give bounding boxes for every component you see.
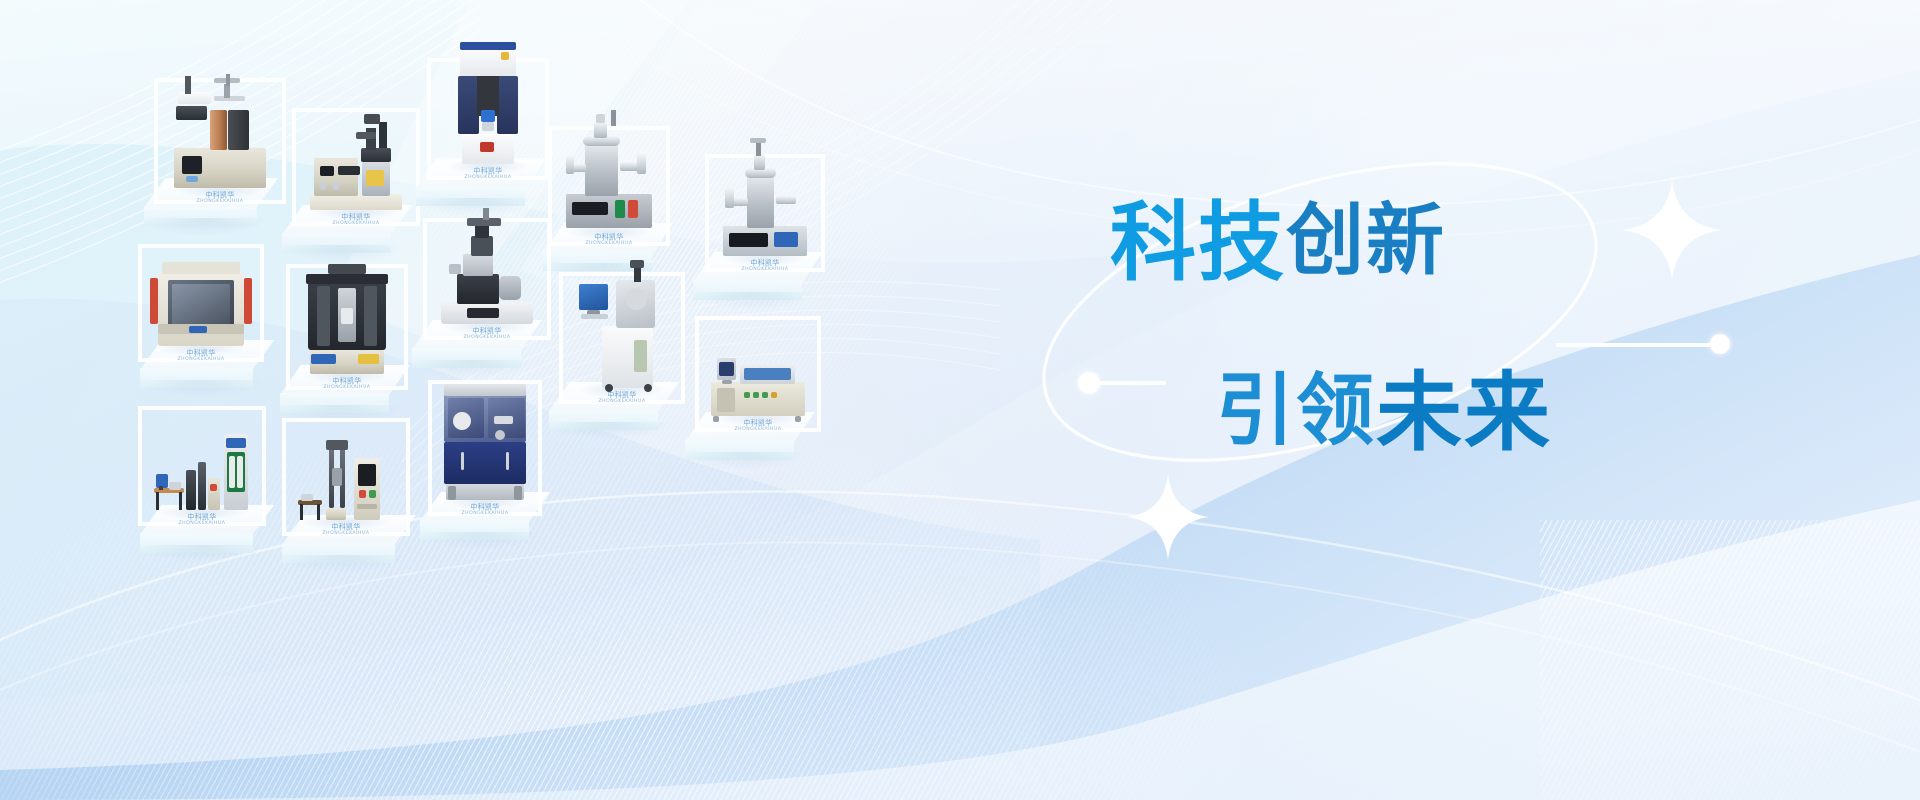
headline-line2-part-a: 引领: [1216, 366, 1376, 456]
product-image-rotational-rheometer: 中科凯华ZHONGKEKAIHUA: [441, 72, 535, 168]
sparkle-icon-top: [1620, 178, 1724, 287]
product-watermark: 中科凯华ZHONGKEKAIHUA: [322, 523, 369, 536]
connector-line-left: [1096, 381, 1166, 385]
sparkle-icon-bottom: [1125, 472, 1211, 567]
product-watermark: 中科凯华ZHONGKEKAIHUA: [741, 259, 788, 272]
product-image-vacuum-coating-chamber-b: 中科凯华ZHONGKEKAIHUA: [719, 168, 811, 260]
product-watermark: 中科凯华ZHONGKEKAIHUA: [332, 213, 379, 226]
product-image-ball-on-disk-tribometer: 中科凯华ZHONGKEKAIHUA: [306, 122, 406, 214]
product-watermark: 中科凯华ZHONGKEKAIHUA: [598, 391, 645, 404]
product-watermark: 中科凯华ZHONGKEKAIHUA: [323, 377, 370, 390]
connector-dot-left: [1078, 372, 1100, 394]
product-watermark: 中科凯华ZHONGKEKAIHUA: [196, 191, 243, 204]
connector-line-right: [1556, 343, 1716, 347]
product-image-biaxial-fatigue-machine: 中科凯华ZHONGKEKAIHUA: [300, 278, 394, 378]
product-image-environmental-chamber-tester: 中科凯华ZHONGKEKAIHUA: [152, 258, 250, 350]
product-image-linear-reciprocating-wear-tester: 中科凯华ZHONGKEKAIHUA: [709, 330, 807, 420]
headline-line-1: 科技创新: [1110, 200, 1670, 286]
hatch-texture-right: [1540, 520, 1920, 800]
headline-line2-part-b: 未来: [1376, 363, 1552, 463]
product-watermark: 中科凯华ZHONGKEKAIHUA: [464, 167, 511, 180]
banner-stage: 科技创新 引领未来 中科凯华ZHONGKEKAIHUA: [0, 0, 1920, 800]
headline-line1-part-a: 科技: [1110, 193, 1286, 293]
orbit-ellipse: [1000, 140, 1620, 480]
product-watermark: 中科凯华ZHONGKEKAIHUA: [734, 419, 781, 432]
product-image-micro-tribology-microscope: 中科凯华ZHONGKEKAIHUA: [437, 232, 537, 328]
product-watermark: 中科凯华ZHONGKEKAIHUA: [177, 349, 224, 362]
product-image-vacuum-coating-chamber-a: 中科凯华ZHONGKEKAIHUA: [562, 140, 656, 234]
product-image-laboratory-system-cabinet: 中科凯华ZHONGKEKAIHUA: [152, 420, 252, 514]
product-image-high-temperature-friction-wear-tester: 中科凯华ZHONGKEKAIHUA: [168, 92, 272, 192]
product-image-nano-indentation-workstation: 中科凯华ZHONGKEKAIHUA: [573, 286, 671, 392]
headline-block: 科技创新 引领未来: [1110, 200, 1670, 456]
product-watermark: 中科凯华ZHONGKEKAIHUA: [585, 233, 632, 246]
product-image-universal-testing-machine: 中科凯华ZHONGKEKAIHUA: [296, 432, 396, 524]
product-watermark: 中科凯华ZHONGKEKAIHUA: [461, 503, 508, 516]
headline-line-2: 引领未来: [1110, 370, 1670, 456]
headline-line1-part-b: 创新: [1286, 196, 1446, 286]
product-watermark: 中科凯华ZHONGKEKAIHUA: [178, 513, 225, 526]
product-image-sealed-cabinet-test-rig: 中科凯华ZHONGKEKAIHUA: [442, 394, 528, 504]
product-watermark: 中科凯华ZHONGKEKAIHUA: [463, 327, 510, 340]
connector-dot-right: [1710, 334, 1730, 354]
